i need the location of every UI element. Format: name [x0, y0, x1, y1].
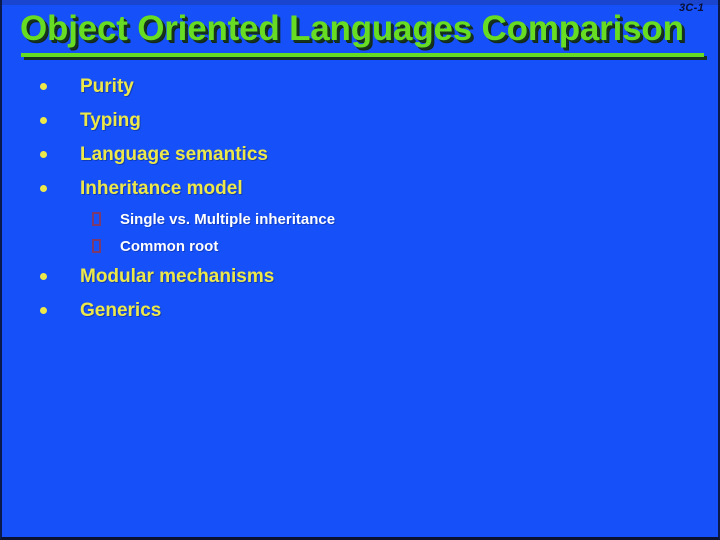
bullet-dot-icon — [40, 307, 47, 314]
sub-list-item: Common root — [2, 235, 720, 262]
slide-title-block: Object Oriented Languages Comparison — [20, 10, 710, 48]
list-item-label: Inheritance model — [80, 174, 720, 204]
presentation-slide: 3C-1 Object Oriented Languages Compariso… — [0, 0, 720, 540]
list-item-label: Language semantics — [80, 140, 720, 170]
list-item: Inheritance model — [2, 174, 720, 208]
page-title: Object Oriented Languages Comparison — [20, 10, 710, 48]
slide-bullet-list: Purity Typing Language semantics Inherit… — [2, 72, 720, 330]
sub-list-item: Single vs. Multiple inheritance — [2, 208, 720, 235]
list-item: Modular mechanisms — [2, 262, 720, 296]
bullet-box-icon — [92, 239, 101, 253]
sub-list-item-label: Common root — [120, 235, 720, 259]
sub-list-item-label: Single vs. Multiple inheritance — [120, 208, 720, 232]
bullet-dot-icon — [40, 273, 47, 280]
list-item: Language semantics — [2, 140, 720, 174]
slide-top-band — [2, 0, 718, 5]
bullet-dot-icon — [40, 185, 47, 192]
title-underline — [21, 53, 704, 57]
bullet-dot-icon — [40, 151, 47, 158]
bullet-dot-icon — [40, 83, 47, 90]
list-item-label: Generics — [80, 296, 720, 326]
list-item-label: Modular mechanisms — [80, 262, 720, 292]
list-item: Generics — [2, 296, 720, 330]
list-item-label: Purity — [80, 72, 720, 102]
bullet-box-icon — [92, 212, 101, 226]
list-item: Typing — [2, 106, 720, 140]
bullet-dot-icon — [40, 117, 47, 124]
list-item: Purity — [2, 72, 720, 106]
list-item-label: Typing — [80, 106, 720, 136]
